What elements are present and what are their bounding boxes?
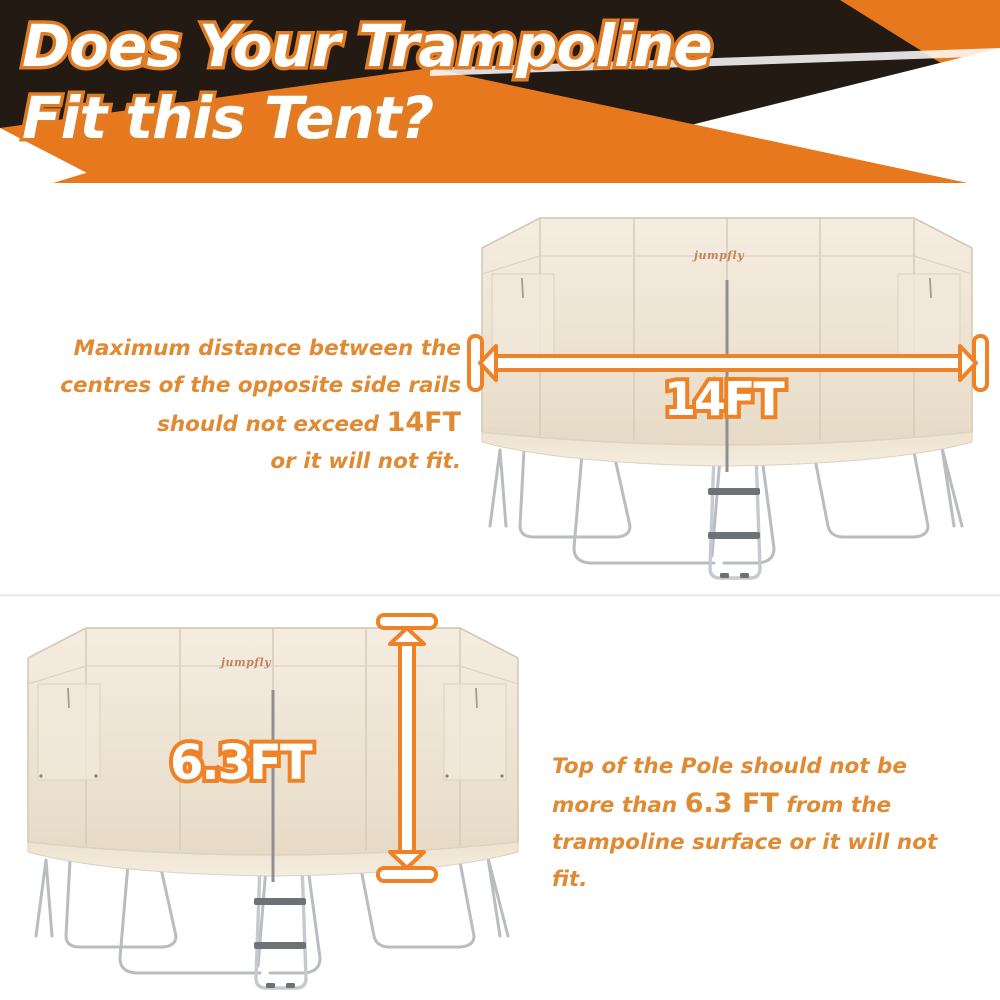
copy2-line2: more than [552,793,685,818]
copy1-line4: or it will not fit. [270,449,461,474]
panel-width-copy: Maximum distance between the centres of … [16,330,461,480]
trampoline-figure-height [8,604,538,996]
measure-arrow-vertical [374,612,442,884]
panel-height-copy: Top of the Pole should not be more than … [552,748,982,898]
copy2-line3: from the [779,793,891,818]
copy2-line4: trampoline surface or it will not [552,830,937,855]
copy2-line1: Top of the Pole should not be [552,754,907,779]
net-door-left-2 [38,684,100,780]
header-title-line-1: Does Your Trampoline [22,12,712,80]
net-door-right-2 [444,684,506,780]
copy1-line3: should not exceed [157,412,387,437]
header-title-line-2: Fit this Tent? [22,84,433,152]
brand-logo-1: jumpfly [694,249,744,262]
trampoline-drawing-2 [8,604,538,996]
copy1-emphasis: 14FT [387,407,461,438]
header-text-group: Does Your Trampoline Fit this Tent? [0,0,1000,190]
copy1-line1: Maximum distance between the [74,336,461,361]
measure-label-14ft: 14FT [664,372,783,426]
copy2-emphasis: 6.3 FT [685,788,779,819]
copy1-line2: centres of the opposite side rails [60,373,461,398]
measure-label-63ft: 6.3FT [170,735,311,791]
copy2-line5: fit. [552,867,587,892]
infographic-page: Does Your Trampoline Fit this Tent? Maxi… [0,0,1000,1000]
brand-logo-2: jumpfly [221,656,271,669]
header-banner: Does Your Trampoline Fit this Tent? [0,0,1000,190]
